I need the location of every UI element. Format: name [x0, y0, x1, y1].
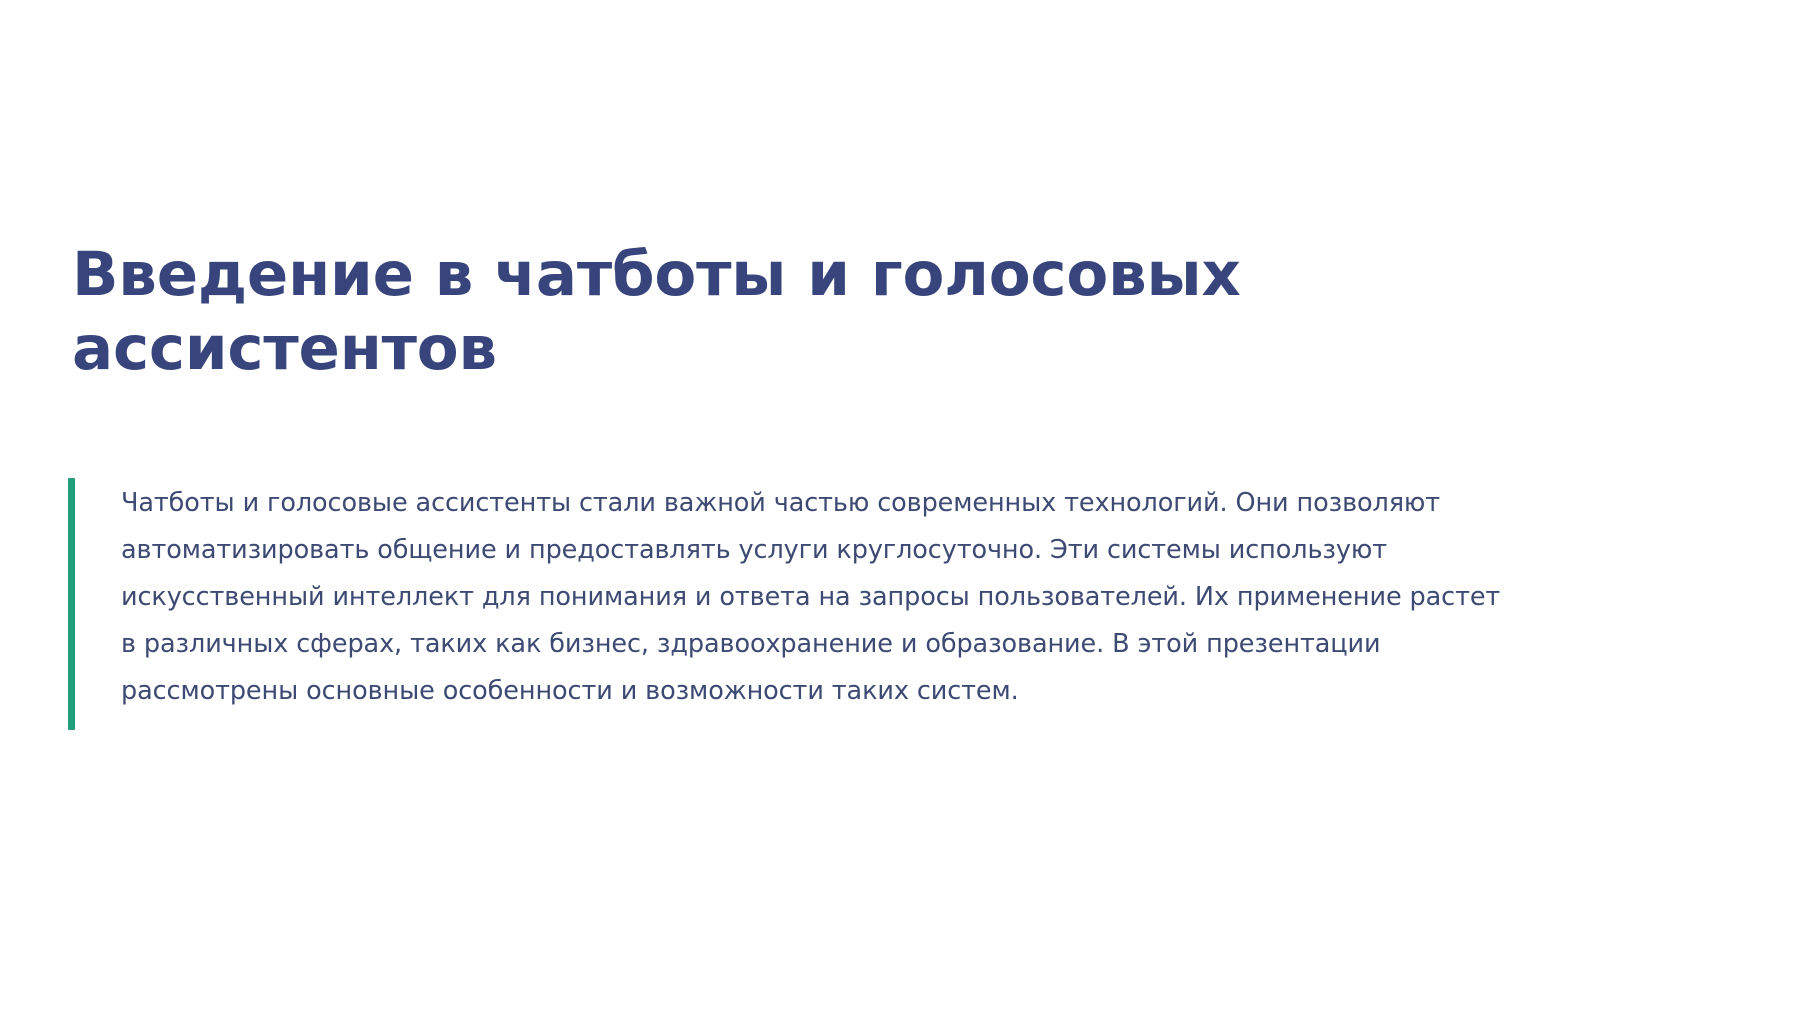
- body-paragraph: Чатботы и голосовые ассистенты стали важ…: [75, 478, 1508, 730]
- presentation-slide: Введение в чатботы и голосовых ассистент…: [0, 0, 1800, 1013]
- body-block: Чатботы и голосовые ассистенты стали важ…: [68, 478, 1508, 730]
- accent-bar: [68, 478, 75, 730]
- page-title: Введение в чатботы и голосовых ассистент…: [72, 238, 1572, 386]
